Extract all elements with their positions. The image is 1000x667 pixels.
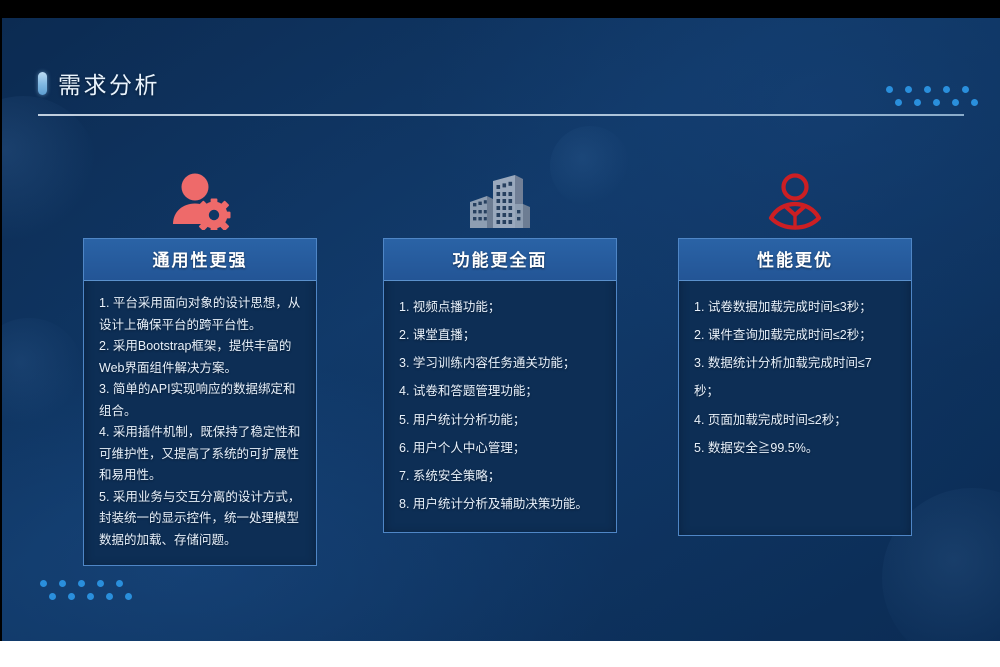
page-title: 需求分析	[58, 66, 160, 100]
slide-canvas: 需求分析	[2, 18, 1000, 641]
letterbox-top	[0, 0, 1000, 18]
feature-card: 性能更优 1. 试卷数据加载完成时间≤3秒； 2. 课件查询加载完成时间≤2秒；…	[678, 238, 912, 536]
title-pill-icon	[38, 72, 47, 95]
feature-column-generality: 通用性更强 1. 平台采用面向对象的设计思想，从设计上确保平台的跨平台性。 2.…	[83, 158, 317, 566]
dot	[914, 99, 921, 106]
card-item: 4. 试卷和答题管理功能；	[399, 377, 601, 405]
card-item: 4. 采用插件机制，既保持了稳定性和可维护性，又提高了系统的可扩展性和易用性。	[99, 422, 301, 487]
dot-grid-bottom-left	[40, 580, 132, 600]
feature-card: 通用性更强 1. 平台采用面向对象的设计思想，从设计上确保平台的跨平台性。 2.…	[83, 238, 317, 566]
card-heading: 功能更全面	[453, 251, 548, 270]
dot	[924, 86, 931, 93]
feature-card: 功能更全面 1. 视频点播功能； 2. 课堂直播； 3. 学习训练内容任务通关功…	[383, 238, 617, 533]
slide-header: 需求分析	[38, 64, 964, 124]
dot-row	[895, 99, 978, 106]
dot	[962, 86, 969, 93]
card-item: 2. 采用Bootstrap框架，提供丰富的Web界面组件解决方案。	[99, 336, 301, 379]
card-heading: 通用性更强	[153, 251, 248, 270]
card-item: 1. 平台采用面向对象的设计思想，从设计上确保平台的跨平台性。	[99, 293, 301, 336]
card-item: 3. 简单的API实现响应的数据绑定和组合。	[99, 379, 301, 422]
card-body: 1. 平台采用面向对象的设计思想，从设计上确保平台的跨平台性。 2. 采用Boo…	[84, 281, 316, 565]
slide-title-row: 需求分析	[38, 64, 964, 102]
slide-root: 需求分析	[0, 0, 1000, 667]
dot	[68, 593, 75, 600]
card-body: 1. 视频点播功能； 2. 课堂直播； 3. 学习训练内容任务通关功能； 4. …	[384, 281, 616, 532]
card-item: 6. 用户个人中心管理；	[399, 434, 601, 462]
dot	[125, 593, 132, 600]
card-item: 2. 课堂直播；	[399, 321, 601, 349]
dot-row	[49, 593, 132, 600]
dot	[106, 593, 113, 600]
dot	[40, 580, 47, 587]
card-item: 3. 数据统计分析加载完成时间≤7秒；	[694, 349, 896, 405]
card-item: 5. 采用业务与交互分离的设计方式，封装统一的显示控件，统一处理模型数据的加载、…	[99, 487, 301, 552]
dot	[943, 86, 950, 93]
card-item: 2. 课件查询加载完成时间≤2秒；	[694, 321, 896, 349]
user-settings-icon	[83, 158, 317, 230]
dot	[933, 99, 940, 106]
card-item: 4. 页面加载完成时间≤2秒；	[694, 406, 896, 434]
dot	[895, 99, 902, 106]
slide-bottom-margin	[0, 641, 1000, 667]
dot-grid-top-right	[886, 86, 978, 106]
card-heading: 性能更优	[757, 251, 833, 270]
dot	[97, 580, 104, 587]
dot	[87, 593, 94, 600]
card-item: 7. 系统安全策略；	[399, 462, 601, 490]
card-item: 8. 用户统计分析及辅助决策功能。	[399, 490, 601, 518]
dot	[49, 593, 56, 600]
card-item: 3. 学习训练内容任务通关功能；	[399, 349, 601, 377]
card-item: 5. 数据安全≧99.5%。	[694, 434, 896, 462]
feature-column-performance: 性能更优 1. 试卷数据加载完成时间≤3秒； 2. 课件查询加载完成时间≤2秒；…	[678, 158, 912, 536]
business-person-icon	[678, 158, 912, 230]
dot	[971, 99, 978, 106]
card-header: 功能更全面	[384, 239, 616, 281]
header-divider	[38, 114, 964, 116]
office-buildings-icon	[383, 158, 617, 230]
dot	[886, 86, 893, 93]
dot-row	[886, 86, 978, 93]
dot	[78, 580, 85, 587]
feature-column-functionality: 功能更全面 1. 视频点播功能； 2. 课堂直播； 3. 学习训练内容任务通关功…	[383, 158, 617, 533]
dot	[59, 580, 66, 587]
card-header: 性能更优	[679, 239, 911, 281]
card-item: 1. 视频点播功能；	[399, 293, 601, 321]
dot-row	[40, 580, 132, 587]
card-body: 1. 试卷数据加载完成时间≤3秒； 2. 课件查询加载完成时间≤2秒； 3. 数…	[679, 281, 911, 476]
dot	[116, 580, 123, 587]
dot	[952, 99, 959, 106]
dot	[905, 86, 912, 93]
card-item: 5. 用户统计分析功能；	[399, 406, 601, 434]
feature-columns: 通用性更强 1. 平台采用面向对象的设计思想，从设计上确保平台的跨平台性。 2.…	[2, 158, 1000, 558]
card-header: 通用性更强	[84, 239, 316, 281]
card-item: 1. 试卷数据加载完成时间≤3秒；	[694, 293, 896, 321]
